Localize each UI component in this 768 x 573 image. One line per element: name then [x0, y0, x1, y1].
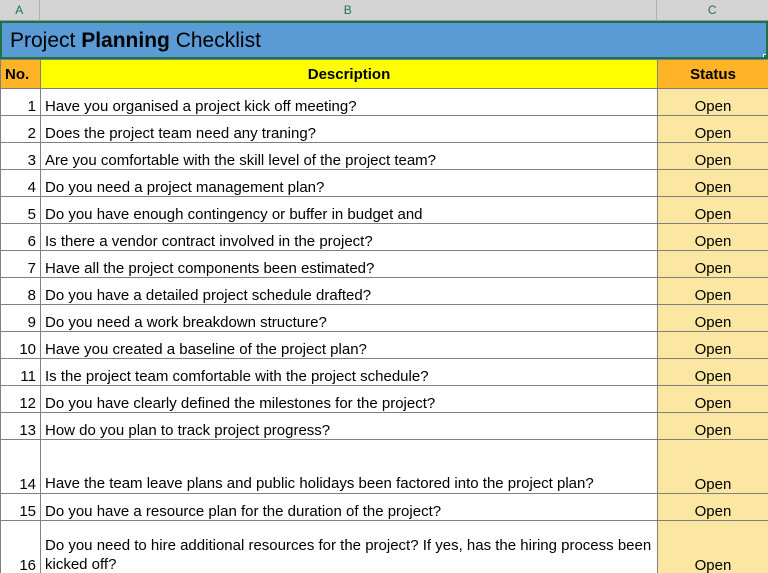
- description-cell[interactable]: Do you have a resource plan for the dura…: [41, 494, 658, 521]
- table-row[interactable]: 4Do you need a project management plan?O…: [1, 170, 768, 197]
- column-header-row: A B C: [0, 0, 768, 21]
- row-number-cell[interactable]: 5: [1, 197, 41, 224]
- status-cell[interactable]: Open: [658, 251, 768, 278]
- description-cell[interactable]: Do you need a project management plan?: [41, 170, 658, 197]
- description-cell[interactable]: Do you have a detailed project schedule …: [41, 278, 658, 305]
- selection-fill-handle[interactable]: [763, 54, 768, 59]
- description-cell[interactable]: Is there a vendor contract involved in t…: [41, 224, 658, 251]
- table-row[interactable]: 15Do you have a resource plan for the du…: [1, 494, 768, 521]
- row-number-cell[interactable]: 2: [1, 116, 41, 143]
- status-cell[interactable]: Open: [658, 305, 768, 332]
- description-cell[interactable]: Do you need to hire additional resources…: [41, 521, 658, 573]
- column-header-b[interactable]: B: [40, 0, 657, 20]
- title-merged-cell[interactable]: Project Planning Checklist: [0, 21, 768, 59]
- table-row[interactable]: 9Do you need a work breakdown structure?…: [1, 305, 768, 332]
- description-cell[interactable]: Have the team leave plans and public hol…: [41, 440, 658, 494]
- description-cell[interactable]: Do you need a work breakdown structure?: [41, 305, 658, 332]
- status-cell[interactable]: Open: [658, 521, 768, 573]
- table-header-row: No. Description Status: [1, 60, 768, 89]
- status-cell[interactable]: Open: [658, 359, 768, 386]
- status-cell[interactable]: Open: [658, 224, 768, 251]
- column-header-description: Description: [41, 60, 658, 89]
- page-title: Project Planning Checklist: [2, 30, 261, 51]
- row-number-cell[interactable]: 1: [1, 89, 41, 116]
- row-number-cell[interactable]: 3: [1, 143, 41, 170]
- row-number-cell[interactable]: 4: [1, 170, 41, 197]
- status-cell[interactable]: Open: [658, 386, 768, 413]
- description-cell[interactable]: Have you organised a project kick off me…: [41, 89, 658, 116]
- description-cell[interactable]: How do you plan to track project progres…: [41, 413, 658, 440]
- table-row[interactable]: 5Do you have enough contingency or buffe…: [1, 197, 768, 224]
- table-row[interactable]: 6Is there a vendor contract involved in …: [1, 224, 768, 251]
- table-row[interactable]: 7Have all the project components been es…: [1, 251, 768, 278]
- status-cell[interactable]: Open: [658, 440, 768, 494]
- row-number-cell[interactable]: 14: [1, 440, 41, 494]
- checklist-table: No. Description Status 1Have you organis…: [0, 59, 768, 573]
- table-row[interactable]: 3Are you comfortable with the skill leve…: [1, 143, 768, 170]
- spreadsheet-sheet: A B C Project Planning Checklist No. Des…: [0, 0, 768, 573]
- description-cell[interactable]: Does the project team need any traning?: [41, 116, 658, 143]
- description-cell[interactable]: Are you comfortable with the skill level…: [41, 143, 658, 170]
- table-row[interactable]: 12Do you have clearly defined the milest…: [1, 386, 768, 413]
- row-number-cell[interactable]: 10: [1, 332, 41, 359]
- status-cell[interactable]: Open: [658, 170, 768, 197]
- table-row[interactable]: 10Have you created a baseline of the pro…: [1, 332, 768, 359]
- column-header-no: No.: [1, 60, 41, 89]
- status-cell[interactable]: Open: [658, 413, 768, 440]
- row-number-cell[interactable]: 12: [1, 386, 41, 413]
- row-number-cell[interactable]: 9: [1, 305, 41, 332]
- title-emphasis: Planning: [81, 29, 170, 52]
- table-row[interactable]: 16Do you need to hire additional resourc…: [1, 521, 768, 573]
- table-row[interactable]: 1Have you organised a project kick off m…: [1, 89, 768, 116]
- status-cell[interactable]: Open: [658, 89, 768, 116]
- table-row[interactable]: 13How do you plan to track project progr…: [1, 413, 768, 440]
- description-cell[interactable]: Is the project team comfortable with the…: [41, 359, 658, 386]
- description-cell[interactable]: Do you have clearly defined the mileston…: [41, 386, 658, 413]
- status-cell[interactable]: Open: [658, 116, 768, 143]
- row-number-cell[interactable]: 13: [1, 413, 41, 440]
- column-header-status: Status: [658, 60, 768, 89]
- table-body: 1Have you organised a project kick off m…: [1, 89, 768, 573]
- row-number-cell[interactable]: 8: [1, 278, 41, 305]
- status-cell[interactable]: Open: [658, 332, 768, 359]
- status-cell[interactable]: Open: [658, 143, 768, 170]
- title-prefix: Project: [10, 29, 81, 52]
- column-header-a[interactable]: A: [0, 0, 40, 20]
- row-number-cell[interactable]: 15: [1, 494, 41, 521]
- column-header-c[interactable]: C: [657, 0, 768, 20]
- description-cell[interactable]: Do you have enough contingency or buffer…: [41, 197, 658, 224]
- table-row[interactable]: 11Is the project team comfortable with t…: [1, 359, 768, 386]
- row-number-cell[interactable]: 6: [1, 224, 41, 251]
- table-row[interactable]: 2Does the project team need any traning?…: [1, 116, 768, 143]
- row-number-cell[interactable]: 7: [1, 251, 41, 278]
- table-row[interactable]: 14Have the team leave plans and public h…: [1, 440, 768, 494]
- row-number-cell[interactable]: 16: [1, 521, 41, 573]
- status-cell[interactable]: Open: [658, 278, 768, 305]
- status-cell[interactable]: Open: [658, 197, 768, 224]
- description-cell[interactable]: Have all the project components been est…: [41, 251, 658, 278]
- status-cell[interactable]: Open: [658, 494, 768, 521]
- row-number-cell[interactable]: 11: [1, 359, 41, 386]
- table-row[interactable]: 8Do you have a detailed project schedule…: [1, 278, 768, 305]
- description-cell[interactable]: Have you created a baseline of the proje…: [41, 332, 658, 359]
- title-suffix: Checklist: [170, 29, 261, 52]
